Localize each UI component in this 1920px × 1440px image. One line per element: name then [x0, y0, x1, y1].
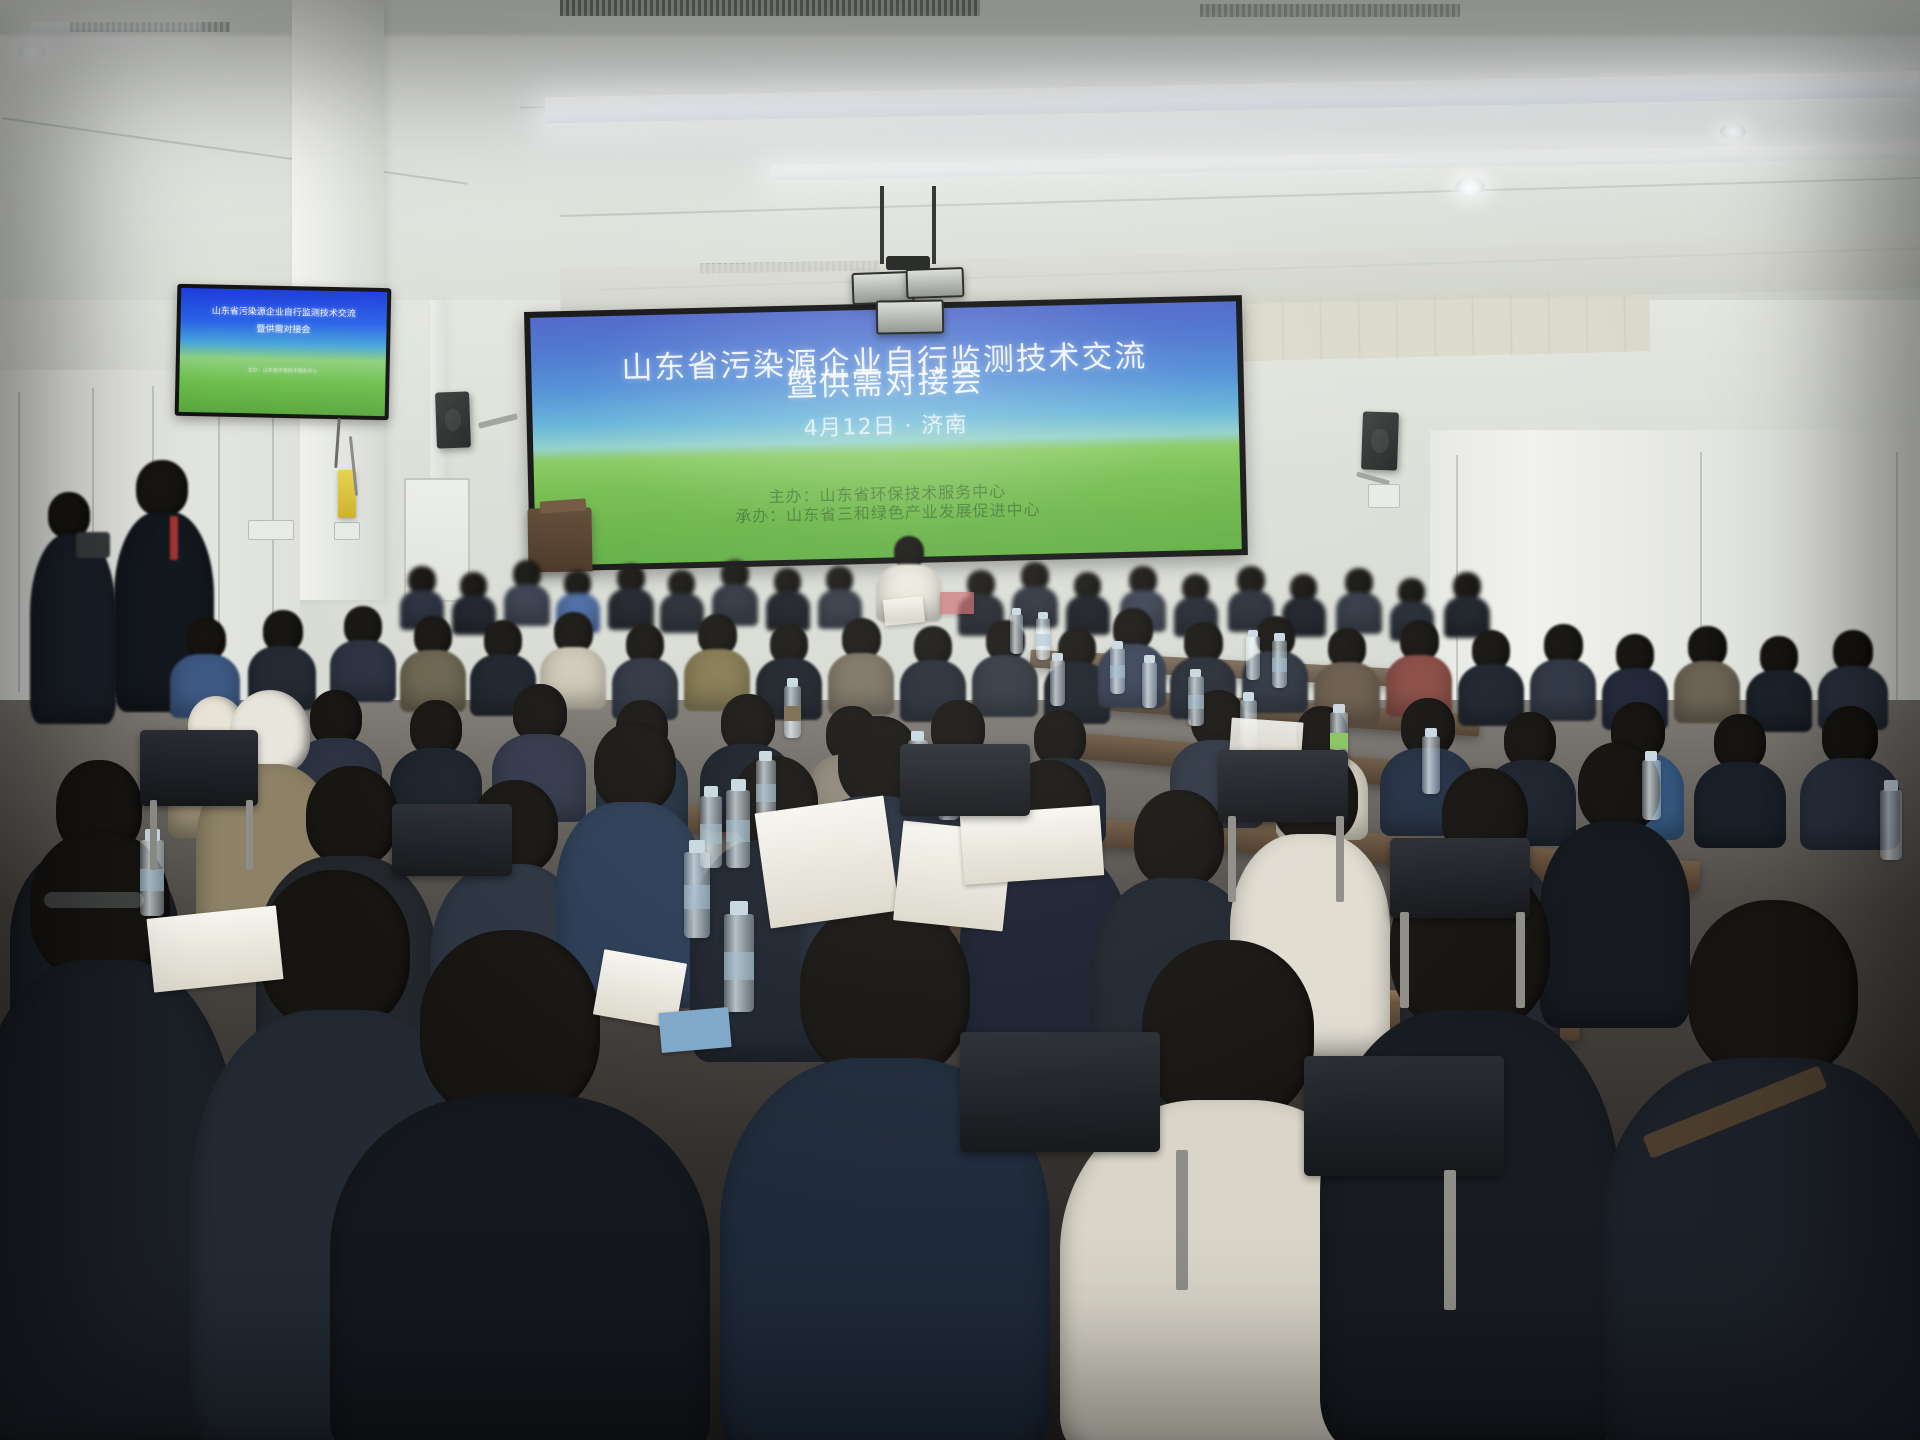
wall-control-panel[interactable] — [1368, 484, 1400, 508]
wall-speaker — [1361, 411, 1399, 470]
projector-mount-rod — [880, 186, 884, 264]
ceiling-air-vent — [1200, 4, 1460, 17]
recessed-downlight — [1455, 178, 1485, 196]
tv-slide-title-line2: 暨供需对接会 — [180, 320, 386, 337]
projector-mount-rod — [932, 186, 936, 264]
fluorescent-tube-light — [30, 22, 200, 31]
projected-slide: 山东省污染源企业自行监测技术交流 暨供需对接会 4月12日 · 济南 主办：山东… — [530, 301, 1242, 566]
wall-speaker — [435, 391, 471, 448]
projector-bracket — [886, 256, 930, 270]
standing-attendee-with-camera — [30, 492, 120, 722]
lanyard — [170, 516, 178, 560]
wall-socket[interactable] — [334, 522, 360, 540]
conference-hall-photo: 山东省污染源企业自行监测技术交流 暨供需对接会 主办：山东省环保技术服务中心 山… — [0, 0, 1920, 1440]
ceiling-projector — [876, 299, 945, 334]
wall-socket[interactable] — [248, 520, 294, 540]
main-projection-screen: 山东省污染源企业自行监测技术交流 暨供需对接会 4月12日 · 济南 主办：山东… — [524, 295, 1248, 572]
tv-slide-title-line1: 山东省污染源企业自行监测技术交流 — [181, 303, 387, 320]
tv-slide-organizer: 主办：山东省环保技术服务中心 — [180, 365, 386, 376]
wall-mounted-tv[interactable]: 山东省污染源企业自行监测技术交流 暨供需对接会 主办：山东省环保技术服务中心 — [175, 284, 392, 420]
recessed-downlight — [1720, 124, 1746, 139]
ceiling-projector — [905, 267, 964, 299]
handheld-camera — [76, 532, 110, 558]
recessed-downlight — [18, 44, 46, 60]
ceiling-air-vent — [560, 0, 980, 16]
eyeglasses — [44, 892, 144, 908]
tv-screen-content: 山东省污染源企业自行监测技术交流 暨供需对接会 主办：山东省环保技术服务中心 — [179, 288, 388, 416]
partition-seam — [18, 392, 20, 692]
